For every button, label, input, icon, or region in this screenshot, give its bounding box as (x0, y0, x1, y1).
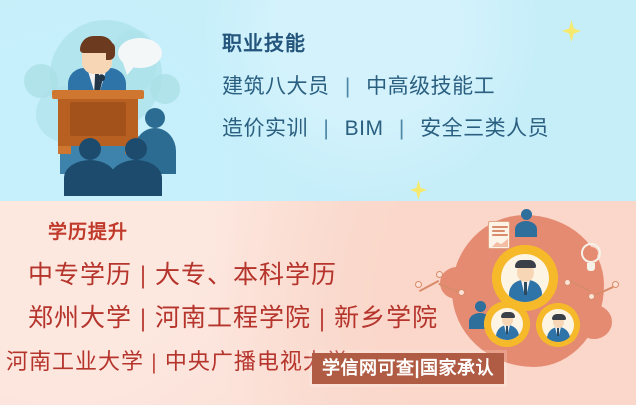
audience-body (110, 160, 162, 196)
doc-line (492, 226, 508, 228)
doc-line (492, 234, 508, 236)
text-separator: | (336, 75, 360, 98)
skill-item-construction-eight-roles[interactable]: 建筑八大员 (222, 75, 330, 98)
audience-head (125, 138, 147, 160)
degree-upgrade-panel: 学历提升 中专学历 | 大专、本科学历 郑州大学 | 河南工程学院 | 新乡学院… (0, 201, 636, 405)
network-nodes (412, 269, 482, 299)
degree-item-vocational-secondary[interactable]: 中专学历 (28, 262, 132, 289)
audience-silhouette (64, 138, 116, 196)
school-item-henan-institute-of-engineering[interactable]: 河南工程学院 (155, 305, 311, 332)
text-separator: | (139, 305, 148, 332)
bulb-base (587, 263, 595, 271)
avatar (491, 308, 523, 340)
audience-head (145, 108, 165, 128)
speaker-hair (106, 42, 115, 60)
doc-line (492, 230, 505, 232)
audience-head (79, 138, 101, 160)
node-segment (569, 280, 591, 292)
school-item-henan-university-of-technology[interactable]: 河南工业大学 (6, 349, 144, 374)
vocational-skills-panel: 职业技能 建筑八大员 | 中高级技能工 造价实训 | BIM | 安全三类人员 (0, 0, 636, 201)
avatar-necktie (506, 326, 508, 334)
avatar-necktie (557, 328, 559, 336)
school-item-xinxiang-university[interactable]: 新乡学院 (334, 305, 438, 332)
decorative-blob (150, 74, 180, 104)
lightbulb-icon (578, 243, 604, 277)
school-item-zhengzhou-university[interactable]: 郑州大学 (28, 305, 132, 332)
node-dot (612, 281, 619, 288)
node-segment (439, 283, 460, 293)
node-dot (415, 281, 422, 288)
degree-upgrade-title: 学历提升 (48, 223, 128, 242)
person-body (515, 221, 537, 237)
vocational-skills-line-2: 造价实训 | BIM | 安全三类人员 (222, 118, 626, 139)
degree-line-1: 中专学历 | 大专、本科学历 (28, 263, 337, 288)
text-separator: | (390, 117, 414, 140)
podium-top (52, 90, 144, 99)
avatar (542, 310, 574, 342)
person-icon (514, 209, 538, 237)
audience-body (64, 160, 116, 196)
decorative-blob (576, 305, 612, 339)
skill-item-cost-estimation-training[interactable]: 造价实训 (222, 117, 308, 140)
bulb-glow (584, 247, 598, 259)
node-dot (588, 293, 595, 300)
skill-item-mid-senior-technician[interactable]: 中高级技能工 (366, 75, 495, 98)
avatar-necktie (524, 282, 527, 295)
avatar-hair (501, 312, 515, 318)
promo-banner: 职业技能 建筑八大员 | 中高级技能工 造价实训 | BIM | 安全三类人员 (0, 0, 636, 405)
skill-item-bim[interactable]: BIM (345, 117, 384, 140)
speech-bubble-icon (118, 38, 162, 68)
podium-panel (70, 102, 126, 136)
vocational-skills-line-1: 建筑八大员 | 中高级技能工 (222, 76, 626, 97)
text-separator: | (139, 262, 148, 289)
node-dot (436, 271, 443, 278)
avatar (501, 254, 549, 302)
node-dot (564, 279, 571, 286)
node-segment (419, 280, 439, 292)
skill-item-safety-three-categories[interactable]: 安全三类人员 (420, 117, 549, 140)
vocational-skills-text-block: 职业技能 建筑八大员 | 中高级技能工 造价实训 | BIM | 安全三类人员 (222, 34, 626, 160)
person-head (521, 209, 532, 220)
text-separator: | (314, 117, 338, 140)
avatar-hair (552, 314, 566, 320)
status-badge: 学信网可查|国家承认 (312, 353, 504, 384)
vocational-skills-title: 职业技能 (222, 34, 626, 54)
node-dot (458, 289, 465, 296)
degree-line-3: 河南工业大学 | 中央广播电视大学 (6, 351, 349, 373)
speaker-at-podium-illustration (14, 12, 194, 194)
degree-line-2: 郑州大学 | 河南工程学院 | 新乡学院 (28, 306, 438, 331)
text-separator: | (151, 349, 159, 374)
avatar-hair (515, 260, 536, 268)
text-separator: | (318, 305, 327, 332)
degree-item-college-bachelor[interactable]: 大专、本科学历 (155, 262, 337, 289)
network-nodes (560, 273, 636, 305)
audience-silhouette (110, 138, 162, 196)
